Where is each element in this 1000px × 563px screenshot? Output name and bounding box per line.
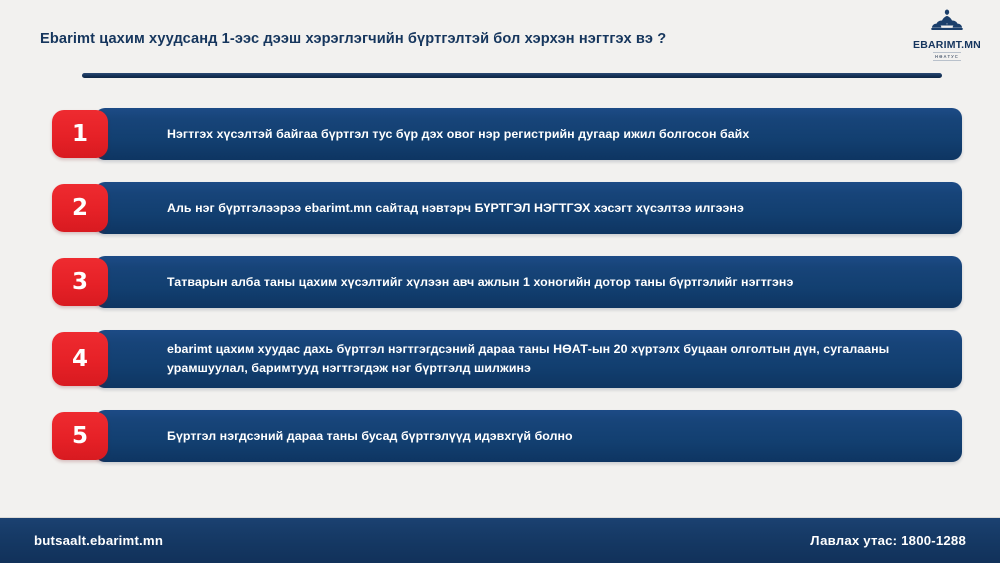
step-bar: ebarimt цахим хуудас дахь бүртгэл нэгтгэ… [95, 330, 962, 388]
step-row: Татварын алба таны цахим хүсэлтийг хүлээ… [0, 256, 1000, 308]
step-text-line1: Нэгтгэх хүсэлтэй байгаа бүртгэл тус бүр … [167, 127, 749, 141]
logo-subtext: НӨАТУС [933, 52, 961, 61]
step-number-badge: 2 [52, 184, 108, 232]
step-text: ebarimt цахим хуудас дахь бүртгэл нэгтгэ… [167, 340, 889, 378]
logo-wordmark: EBARIMT.MN [913, 39, 981, 51]
ebarimt-logo: EBARIMT.MN НӨАТУС [908, 8, 986, 66]
step-bar: Аль нэг бүртгэлээрээ ebarimt.mn сайтад н… [95, 182, 962, 234]
step-row: Аль нэг бүртгэлээрээ ebarimt.mn сайтад н… [0, 182, 1000, 234]
step-text-line1: Аль нэг бүртгэлээрээ ebarimt.mn сайтад н… [167, 201, 744, 215]
steps-list: Нэгтгэх хүсэлтэй байгаа бүртгэл тус бүр … [0, 108, 1000, 484]
step-number: 1 [72, 123, 88, 146]
step-text-line1: Бүртгэл нэгдсэний дараа таны бусад бүртг… [167, 429, 573, 443]
step-text: Нэгтгэх хүсэлтэй байгаа бүртгэл тус бүр … [167, 125, 749, 144]
step-bar: Татварын алба таны цахим хүсэлтийг хүлээ… [95, 256, 962, 308]
step-number: 4 [72, 348, 88, 371]
soyombo-emblem-icon [927, 8, 967, 38]
step-text: Бүртгэл нэгдсэний дараа таны бусад бүртг… [167, 427, 573, 446]
header-divider [82, 73, 942, 78]
step-number: 3 [72, 271, 88, 294]
page-header: Ebarimt цахим хуудсанд 1-ээс дээш хэрэгл… [0, 0, 1000, 96]
step-number-badge: 5 [52, 412, 108, 460]
step-number-badge: 4 [52, 332, 108, 386]
page-footer: butsaalt.ebarimt.mn Лавлах утас: 1800-12… [0, 517, 1000, 563]
step-number: 2 [72, 197, 88, 220]
step-number: 5 [72, 425, 88, 448]
step-bar: Бүртгэл нэгдсэний дараа таны бусад бүртг… [95, 410, 962, 462]
infographic-page: Ebarimt цахим хуудсанд 1-ээс дээш хэрэгл… [0, 0, 1000, 563]
step-number-badge: 1 [52, 110, 108, 158]
step-text-line1: ebarimt цахим хуудас дахь бүртгэл нэгтгэ… [167, 342, 889, 356]
step-text: Аль нэг бүртгэлээрээ ebarimt.mn сайтад н… [167, 199, 744, 218]
step-text: Татварын алба таны цахим хүсэлтийг хүлээ… [167, 273, 793, 292]
footer-website[interactable]: butsaalt.ebarimt.mn [34, 533, 163, 548]
step-row: ebarimt цахим хуудас дахь бүртгэл нэгтгэ… [0, 330, 1000, 388]
step-text-line2: урамшуулал, баримтууд нэгтгэгдэж нэг бүр… [167, 359, 889, 378]
step-row: Бүртгэл нэгдсэний дараа таны бусад бүртг… [0, 410, 1000, 462]
step-number-badge: 3 [52, 258, 108, 306]
page-title: Ebarimt цахим хуудсанд 1-ээс дээш хэрэгл… [40, 29, 880, 49]
footer-phone: Лавлах утас: 1800-1288 [810, 533, 966, 548]
step-text-line1: Татварын алба таны цахим хүсэлтийг хүлээ… [167, 275, 793, 289]
step-bar: Нэгтгэх хүсэлтэй байгаа бүртгэл тус бүр … [95, 108, 962, 160]
step-row: Нэгтгэх хүсэлтэй байгаа бүртгэл тус бүр … [0, 108, 1000, 160]
